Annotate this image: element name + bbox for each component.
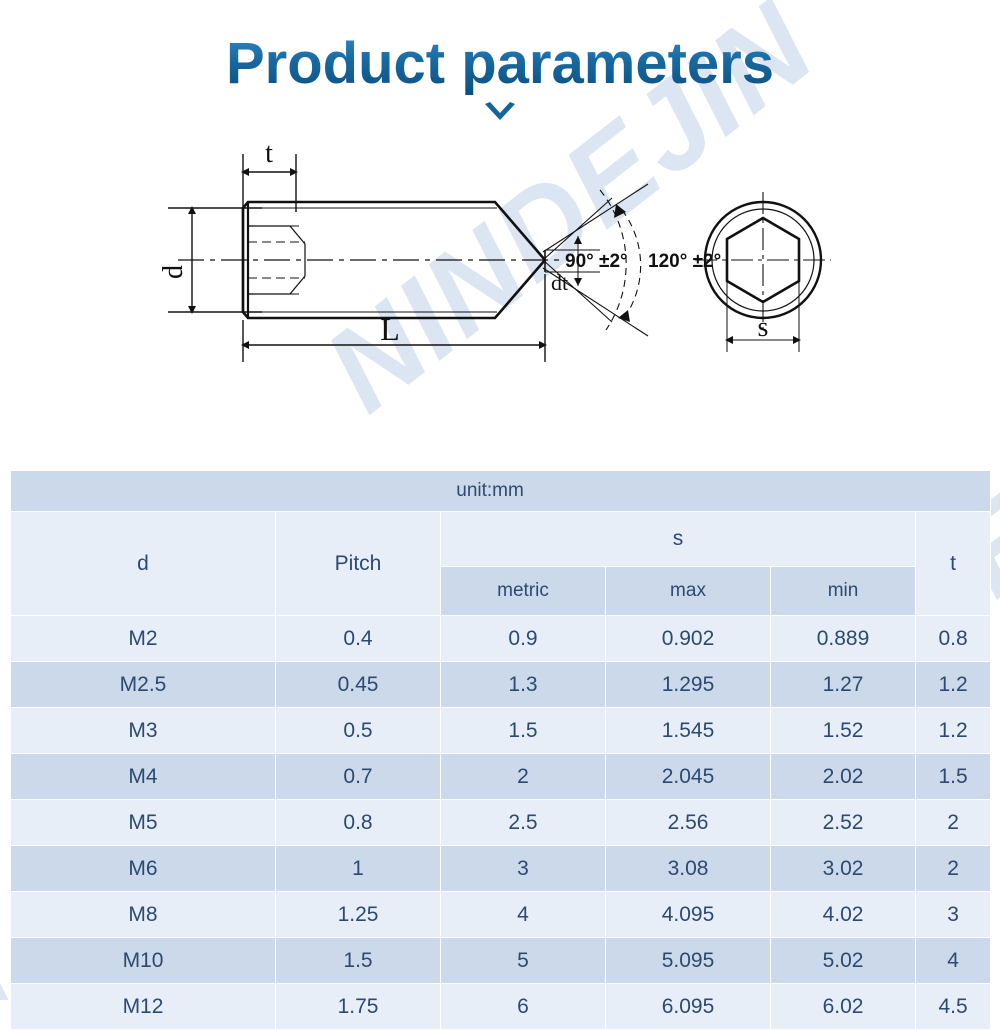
table-cell-t: 1.5	[916, 754, 991, 800]
column-header-pitch: Pitch	[276, 512, 441, 616]
table-cell-pitch: 0.5	[276, 708, 441, 754]
table-cell-pitch: 1.75	[276, 984, 441, 1030]
table-cell-t: 1.2	[916, 708, 991, 754]
dimension-label-L: L	[380, 311, 400, 347]
table-cell-min: 1.52	[771, 708, 916, 754]
table-cell-t: 4	[916, 938, 991, 984]
spec-table: unit:mm d Pitch s t metric max min M20.4…	[10, 470, 991, 1030]
table-cell-max: 0.902	[606, 616, 771, 662]
title-block: Product parameters	[0, 34, 1000, 125]
table-cell-t: 4.5	[916, 984, 991, 1030]
table-row: M2.50.451.31.2951.271.2	[11, 662, 991, 708]
table-cell-metric: 6	[441, 984, 606, 1030]
table-cell-d: M6	[11, 846, 276, 892]
spec-table-body: M20.40.90.9020.8890.8M2.50.451.31.2951.2…	[11, 616, 991, 1030]
column-header-s: s	[441, 512, 916, 567]
table-row: M121.7566.0956.024.5	[11, 984, 991, 1030]
unit-label: unit:mm	[11, 471, 991, 512]
technical-drawing: d t L dt s 90° ±2° 120° ±2°	[0, 140, 1000, 400]
table-cell-min: 1.27	[771, 662, 916, 708]
table-cell-pitch: 0.8	[276, 800, 441, 846]
page-title: Product parameters	[226, 34, 774, 95]
spec-table-container: unit:mm d Pitch s t metric max min M20.4…	[10, 470, 990, 1030]
table-row: M81.2544.0954.023	[11, 892, 991, 938]
table-cell-max: 4.095	[606, 892, 771, 938]
table-header-row-main: d Pitch s t	[11, 512, 991, 567]
table-cell-max: 1.545	[606, 708, 771, 754]
table-cell-d: M10	[11, 938, 276, 984]
table-cell-pitch: 1.25	[276, 892, 441, 938]
table-cell-min: 6.02	[771, 984, 916, 1030]
table-unit-row: unit:mm	[11, 471, 991, 512]
column-header-d: d	[11, 512, 276, 616]
table-cell-metric: 5	[441, 938, 606, 984]
table-cell-min: 5.02	[771, 938, 916, 984]
table-cell-metric: 2.5	[441, 800, 606, 846]
table-cell-metric: 3	[441, 846, 606, 892]
table-cell-pitch: 0.4	[276, 616, 441, 662]
table-cell-max: 6.095	[606, 984, 771, 1030]
table-row: M30.51.51.5451.521.2	[11, 708, 991, 754]
table-cell-d: M2.5	[11, 662, 276, 708]
dimension-label-d: d	[158, 265, 189, 279]
column-header-max: max	[606, 567, 771, 616]
table-cell-d: M3	[11, 708, 276, 754]
table-cell-min: 2.02	[771, 754, 916, 800]
table-row: M6133.083.022	[11, 846, 991, 892]
table-cell-t: 2	[916, 846, 991, 892]
table-cell-max: 2.56	[606, 800, 771, 846]
table-cell-t: 1.2	[916, 662, 991, 708]
table-cell-pitch: 0.45	[276, 662, 441, 708]
table-cell-max: 2.045	[606, 754, 771, 800]
table-cell-d: M2	[11, 616, 276, 662]
table-row: M20.40.90.9020.8890.8	[11, 616, 991, 662]
table-cell-max: 3.08	[606, 846, 771, 892]
column-header-metric: metric	[441, 567, 606, 616]
dimension-label-t: t	[265, 140, 273, 169]
table-cell-max: 1.295	[606, 662, 771, 708]
table-cell-metric: 4	[441, 892, 606, 938]
table-cell-max: 5.095	[606, 938, 771, 984]
table-cell-d: M12	[11, 984, 276, 1030]
table-cell-metric: 1.5	[441, 708, 606, 754]
table-cell-min: 2.52	[771, 800, 916, 846]
table-cell-d: M4	[11, 754, 276, 800]
table-cell-metric: 2	[441, 754, 606, 800]
table-row: M101.555.0955.024	[11, 938, 991, 984]
table-cell-metric: 1.3	[441, 662, 606, 708]
chevron-down-icon	[483, 101, 517, 125]
table-cell-t: 3	[916, 892, 991, 938]
table-row: M50.82.52.562.522	[11, 800, 991, 846]
column-header-min: min	[771, 567, 916, 616]
table-row: M40.722.0452.021.5	[11, 754, 991, 800]
dimension-label-dt: dt	[551, 270, 568, 295]
table-cell-d: M8	[11, 892, 276, 938]
table-cell-min: 4.02	[771, 892, 916, 938]
table-cell-min: 3.02	[771, 846, 916, 892]
table-cell-d: M5	[11, 800, 276, 846]
table-cell-t: 2	[916, 800, 991, 846]
angle-label-socket: 120° ±2°	[648, 251, 721, 272]
table-cell-pitch: 1.5	[276, 938, 441, 984]
table-cell-t: 0.8	[916, 616, 991, 662]
table-cell-pitch: 1	[276, 846, 441, 892]
table-cell-min: 0.889	[771, 616, 916, 662]
angle-label-point: 90° ±2°	[565, 251, 628, 272]
set-screw-diagram: d t L dt s 90° ±2° 120° ±2°	[0, 140, 1000, 400]
table-cell-metric: 0.9	[441, 616, 606, 662]
column-header-t: t	[916, 512, 991, 616]
dimension-label-s: s	[758, 312, 769, 343]
table-cell-pitch: 0.7	[276, 754, 441, 800]
